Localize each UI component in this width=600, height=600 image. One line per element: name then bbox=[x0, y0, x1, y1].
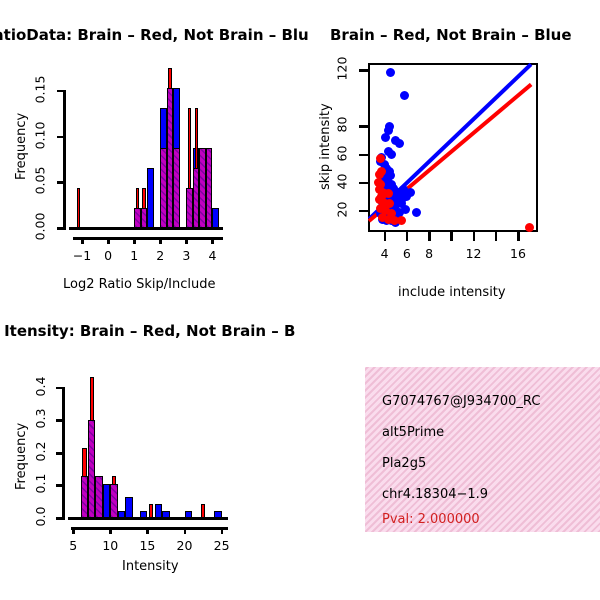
gene-x-tick-label: 20 bbox=[165, 538, 205, 553]
gene-bar-overlap bbox=[88, 420, 95, 518]
gene-y-tick bbox=[56, 387, 63, 390]
gene-bar-not-brain bbox=[103, 484, 110, 518]
gene-bar-not-brain bbox=[125, 497, 132, 518]
scatter-point-not-brain bbox=[386, 68, 395, 77]
scatter-point-not-brain bbox=[412, 208, 421, 217]
ratio-bar-overlap bbox=[173, 148, 180, 228]
scatter-point-not-brain bbox=[387, 150, 396, 159]
scatter-x-tick-label: 8 bbox=[409, 246, 449, 261]
scatter-x-tick-label: 12 bbox=[454, 246, 494, 261]
scatter-x-tick bbox=[473, 232, 476, 241]
ratio-x-tick bbox=[133, 237, 136, 244]
gene-y-tick bbox=[56, 484, 63, 487]
scatter-point-brain bbox=[525, 223, 534, 232]
scatter-y-tick bbox=[359, 69, 368, 72]
ratio-y-tick bbox=[57, 227, 64, 230]
gene-x-tick bbox=[72, 527, 75, 534]
scatter-point-brain bbox=[376, 154, 385, 163]
ratio-histogram-panel: RatioData: Brain – Red, Not Brain – Blu … bbox=[0, 0, 300, 300]
ratio-y-tick bbox=[57, 90, 64, 93]
gene-x-axis-line bbox=[71, 527, 228, 530]
ratio-y-tick-label: 0.00 bbox=[33, 209, 48, 245]
ratio-y-axis-line bbox=[63, 90, 66, 230]
gene-bar-brain bbox=[149, 504, 153, 518]
ratio-x-tick bbox=[107, 237, 110, 244]
gene-x-tick-label: 5 bbox=[53, 538, 93, 553]
gene-bar-overlap bbox=[95, 476, 102, 518]
gene-x-tick-label: 10 bbox=[90, 538, 130, 553]
ratio-y-tick bbox=[57, 181, 64, 184]
event-info-box: G7074767@J934700_RC alt5Prime Pla2g5 chr… bbox=[365, 367, 600, 532]
gene-y-tick-label: 0.3 bbox=[33, 402, 48, 435]
gene-bar-not-brain bbox=[185, 511, 192, 518]
ratio-bar-brain bbox=[77, 188, 80, 228]
gene-x-tick bbox=[221, 527, 224, 534]
scatter-x-tick bbox=[517, 232, 520, 241]
ratio-y-tick-label: 0.10 bbox=[33, 117, 48, 153]
gene-bar-not-brain bbox=[155, 504, 162, 518]
ratio-x-tick-label: 4 bbox=[192, 248, 232, 263]
gene-bar-overlap bbox=[81, 476, 88, 518]
scatter-point-not-brain bbox=[401, 205, 410, 214]
info-pval: Pval: 2.000000 bbox=[382, 512, 480, 527]
gene-bar-overlap bbox=[110, 484, 117, 518]
ratio-x-tick bbox=[159, 237, 162, 244]
info-coordinates: chr4.18304−1.9 bbox=[382, 487, 488, 502]
gene-x-tick bbox=[146, 527, 149, 534]
gene-intensity-histogram-plot-area: 0.00.10.20.30.4510152025 bbox=[0, 300, 300, 600]
scatter-x-tick bbox=[450, 232, 453, 241]
ratio-y-tick-label: 0.05 bbox=[33, 163, 48, 199]
scatter-y-tick-label: 120 bbox=[335, 51, 350, 87]
info-probe-id: G7074767@J934700_RC bbox=[382, 394, 540, 409]
gene-intensity-histogram-panel: ne Itensity: Brain – Red, Not Brain – B … bbox=[0, 300, 300, 600]
ratio-bar-overlap bbox=[160, 148, 167, 228]
ratio-bar-not-brain bbox=[147, 168, 154, 228]
ratio-x-tick bbox=[81, 237, 84, 244]
gene-bar-not-brain bbox=[214, 511, 221, 518]
gene-x-tick-label: 15 bbox=[127, 538, 167, 553]
gene-bar-not-brain bbox=[140, 511, 147, 518]
info-event-type: alt5Prime bbox=[382, 425, 444, 440]
scatter-point-brain bbox=[397, 216, 406, 225]
gene-y-tick-label: 0.0 bbox=[33, 500, 48, 533]
intensity-scatter-plot-area: 204060801204681216 bbox=[300, 0, 600, 300]
gene-x-tick bbox=[109, 527, 112, 534]
scatter-point-not-brain bbox=[381, 133, 390, 142]
gene-x-tick bbox=[184, 527, 187, 534]
intensity-scatter-panel: Brain – Red, Not Brain – Blue skip inten… bbox=[300, 0, 600, 300]
scatter-y-tick-label: 80 bbox=[335, 107, 350, 143]
scatter-data-area bbox=[368, 63, 538, 232]
gene-y-tick-label: 0.1 bbox=[33, 467, 48, 500]
gene-y-tick bbox=[56, 452, 63, 455]
gene-y-tick-label: 0.4 bbox=[33, 370, 48, 403]
ratio-bar-overlap bbox=[206, 148, 213, 228]
ratio-y-tick bbox=[57, 136, 64, 139]
scatter-point-not-brain bbox=[400, 91, 409, 100]
gene-x-tick-label: 25 bbox=[202, 538, 242, 553]
scatter-x-tick bbox=[406, 232, 409, 241]
scatter-y-tick bbox=[359, 182, 368, 185]
gene-bar-brain bbox=[201, 504, 205, 518]
scatter-y-tick bbox=[359, 125, 368, 128]
info-gene-symbol: Pla2g5 bbox=[382, 456, 426, 471]
scatter-y-tick bbox=[359, 210, 368, 213]
ratio-y-tick-label: 0.15 bbox=[33, 71, 48, 107]
gene-bar-not-brain bbox=[162, 511, 169, 518]
ratio-x-tick bbox=[211, 237, 214, 244]
ratio-x-axis-line bbox=[73, 237, 223, 240]
scatter-point-not-brain bbox=[402, 192, 411, 201]
scatter-point-brain bbox=[384, 189, 393, 198]
scatter-point-not-brain bbox=[395, 139, 404, 148]
scatter-x-tick bbox=[384, 232, 387, 241]
gene-y-tick bbox=[56, 419, 63, 422]
ratio-histogram-plot-area: 0.000.050.100.15−101234 bbox=[0, 0, 300, 300]
ratio-x-tick bbox=[185, 237, 188, 244]
ratio-bar-overlap bbox=[134, 208, 141, 228]
gene-y-tick-label: 0.2 bbox=[33, 435, 48, 468]
gene-y-tick bbox=[56, 517, 63, 520]
scatter-x-tick-label: 16 bbox=[498, 246, 538, 261]
ratio-bar-not-brain bbox=[212, 208, 219, 228]
scatter-y-tick bbox=[359, 154, 368, 157]
gene-bar-not-brain bbox=[118, 511, 125, 518]
scatter-x-tick bbox=[428, 232, 431, 241]
scatter-x-tick bbox=[495, 232, 498, 241]
